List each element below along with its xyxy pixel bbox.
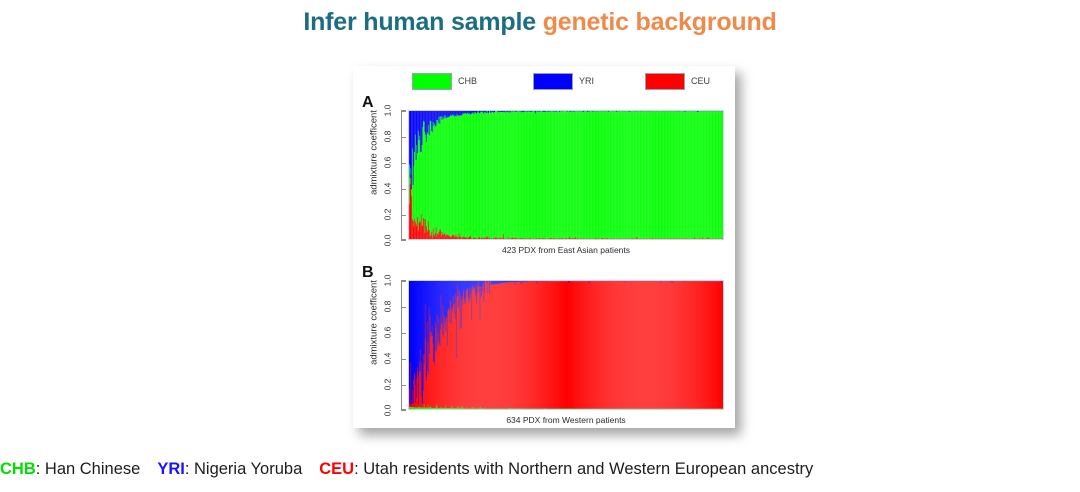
panel-b-x-axis-label: 634 PDX from Western patients: [408, 415, 724, 425]
key-text-chb: : Han Chinese: [36, 460, 141, 478]
panel-b: B admixture coefficent 0.00.20.40.60.81.…: [353, 264, 735, 439]
panel-a-x-axis-label: 423 PDX from East Asian patients: [408, 245, 724, 255]
page-title: Infer human sample genetic background: [0, 8, 1080, 37]
key-text-yri: : Nigeria Yoruba: [185, 460, 302, 478]
y-axis-tick: [401, 240, 406, 241]
y-ticklabel: 0.2: [384, 373, 393, 395]
legend-swatch-yri: [533, 73, 573, 90]
legend-swatch-chb: [412, 73, 452, 90]
y-axis-tick: [401, 281, 406, 282]
key-code-ceu: CEU: [319, 460, 354, 478]
y-axis-tick: [401, 137, 406, 138]
y-axis-tick: [401, 163, 406, 164]
y-ticklabel: 0.8: [384, 295, 393, 317]
legend-swatch-ceu: [645, 73, 685, 90]
y-ticklabel: 0.4: [384, 347, 393, 369]
y-axis-tick: [401, 307, 406, 308]
legend-entry-ceu: CEU: [645, 71, 710, 91]
panel-b-y-axis-line: [401, 280, 406, 410]
y-ticklabel: 1.0: [384, 269, 393, 291]
key-code-yri: YRI: [157, 460, 185, 478]
key-item-chb: CHB: Han Chinese: [0, 460, 140, 478]
key-code-chb: CHB: [0, 460, 36, 478]
y-axis-tick: [401, 410, 406, 411]
page-title-part-two: genetic background: [543, 8, 777, 36]
y-ticklabel: 0.0: [384, 229, 393, 251]
y-ticklabel: 0.6: [384, 321, 393, 343]
key-item-ceu: CEU: Utah residents with Northern and We…: [319, 460, 813, 478]
plot-legend: CHB YRI CEU: [353, 71, 735, 93]
y-axis-tick: [401, 359, 406, 360]
y-ticklabel: 0.0: [384, 399, 393, 421]
figure-card: CHB YRI CEU A admixture coefficent 0.00.…: [353, 66, 735, 428]
legend-label-ceu: CEU: [691, 76, 710, 86]
y-ticklabel: 0.4: [384, 177, 393, 199]
y-ticklabel: 0.8: [384, 125, 393, 147]
panel-a-y-axis-line: [401, 110, 406, 240]
panel-a-y-ticklabels: 0.00.20.40.60.81.0: [377, 110, 399, 240]
legend-label-yri: YRI: [579, 76, 594, 86]
y-ticklabel: 0.2: [384, 203, 393, 225]
legend-entry-chb: CHB: [412, 71, 477, 91]
panel-b-y-ticklabels: 0.00.20.40.60.81.0: [377, 280, 399, 410]
y-axis-tick: [401, 385, 406, 386]
y-axis-tick: [401, 111, 406, 112]
y-axis-tick: [401, 333, 406, 334]
panel-a: A admixture coefficent 0.00.20.40.60.81.…: [353, 94, 735, 269]
legend-label-chb: CHB: [458, 76, 477, 86]
key-text-ceu: : Utah residents with Northern and Weste…: [354, 460, 813, 478]
key-item-yri: YRI: Nigeria Yoruba: [157, 460, 302, 478]
legend-entry-yri: YRI: [533, 71, 594, 91]
y-axis-tick: [401, 189, 406, 190]
panel-a-structure-plot: [408, 110, 724, 240]
population-key: CHB: Han ChineseYRI: Nigeria YorubaCEU: …: [0, 460, 1080, 479]
panel-b-structure-plot: [408, 280, 724, 410]
y-ticklabel: 0.6: [384, 151, 393, 173]
y-axis-tick: [401, 215, 406, 216]
y-ticklabel: 1.0: [384, 99, 393, 121]
page-title-part-one: Infer human sample: [303, 8, 542, 36]
